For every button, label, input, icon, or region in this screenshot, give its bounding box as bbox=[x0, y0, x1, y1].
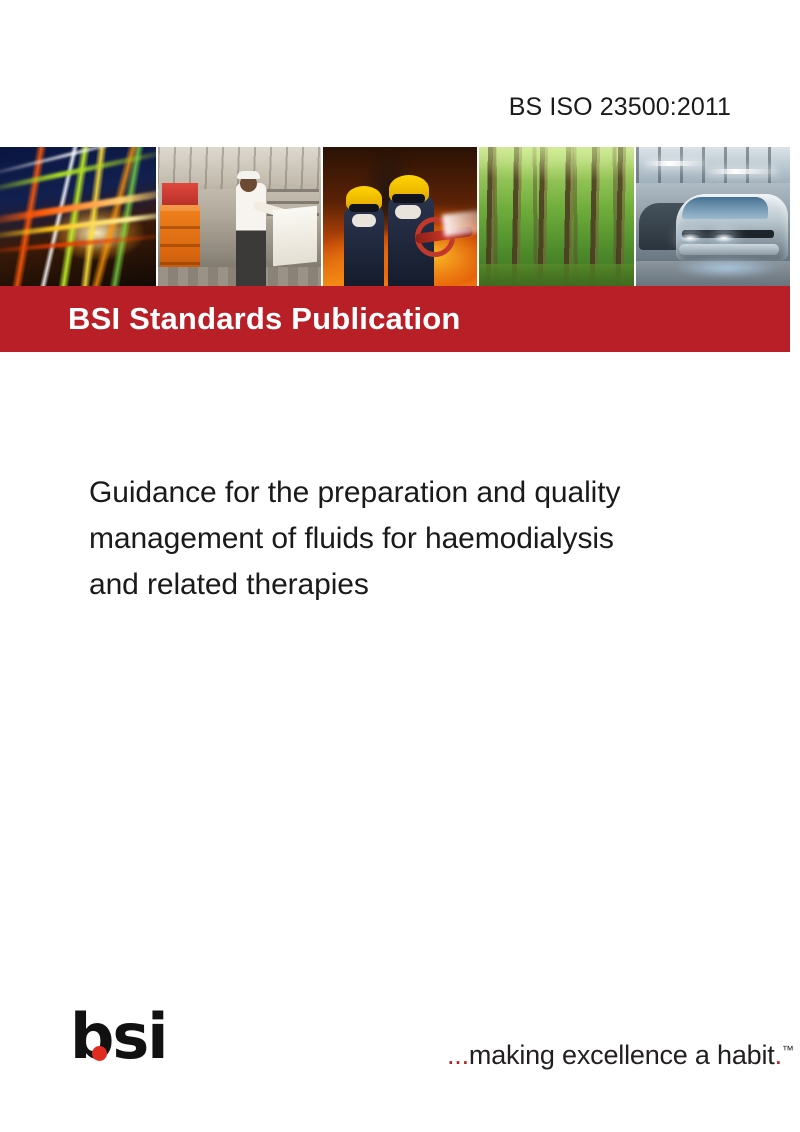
light-streak-green bbox=[0, 147, 156, 194]
document-page: BS ISO 23500:2011 bbox=[0, 0, 800, 1132]
tagline-leading-dots: ... bbox=[447, 1040, 469, 1070]
banner-label: BSI Standards Publication bbox=[68, 300, 461, 338]
car-windscreen bbox=[682, 197, 768, 219]
tagline-period: . bbox=[775, 1040, 782, 1070]
factory-lamp bbox=[707, 169, 777, 174]
worker-cap bbox=[237, 171, 260, 179]
page-title: Guidance for the preparation and quality… bbox=[89, 470, 729, 608]
trademark-symbol: ™ bbox=[782, 1043, 794, 1057]
bsi-standards-publication-banner: BSI Standards Publication bbox=[0, 286, 790, 352]
light-streak-red bbox=[0, 232, 156, 254]
bsi-logo: bsi bbox=[70, 1006, 180, 1068]
car-headlight-right bbox=[713, 233, 735, 243]
factory-lamp bbox=[645, 161, 705, 166]
photo-panel-pine-forest bbox=[477, 147, 633, 286]
warehouse-paperwork bbox=[273, 206, 317, 266]
worker-torso bbox=[236, 183, 266, 286]
tagline-text: making excellence a habit bbox=[469, 1040, 775, 1070]
warehouse-red-box bbox=[162, 183, 198, 205]
car-headlight-left bbox=[679, 233, 701, 243]
bsi-tagline: ...making excellence a habit.™ bbox=[447, 1033, 794, 1072]
bsi-logo-dot bbox=[92, 1046, 107, 1061]
forest-canopy-light bbox=[479, 147, 633, 200]
photo-panel-warehouse-worker bbox=[156, 147, 320, 286]
photo-panel-firefighters bbox=[321, 147, 477, 286]
firefighter-visor-right bbox=[392, 194, 425, 203]
standard-number: BS ISO 23500:2011 bbox=[0, 92, 731, 122]
firefighter-mask-left bbox=[352, 214, 376, 227]
photo-panel-car-assembly-line bbox=[634, 147, 790, 286]
photo-panel-night-traffic-light-trails bbox=[0, 147, 156, 286]
firefighter-visor-left bbox=[349, 204, 379, 212]
title-line-2: management of fluids for haemodialysis bbox=[89, 516, 729, 562]
bsi-logo-wordmark: bsi bbox=[70, 1000, 167, 1073]
forest-floor bbox=[479, 264, 633, 286]
cover-photo-strip bbox=[0, 147, 790, 286]
car-bumper bbox=[679, 244, 779, 255]
title-line-1: Guidance for the preparation and quality bbox=[89, 470, 729, 516]
title-line-3: and related therapies bbox=[89, 562, 729, 608]
water-jet bbox=[442, 207, 477, 236]
headlight-floor-glow bbox=[673, 258, 781, 278]
firefighter-mask-right bbox=[395, 205, 421, 219]
